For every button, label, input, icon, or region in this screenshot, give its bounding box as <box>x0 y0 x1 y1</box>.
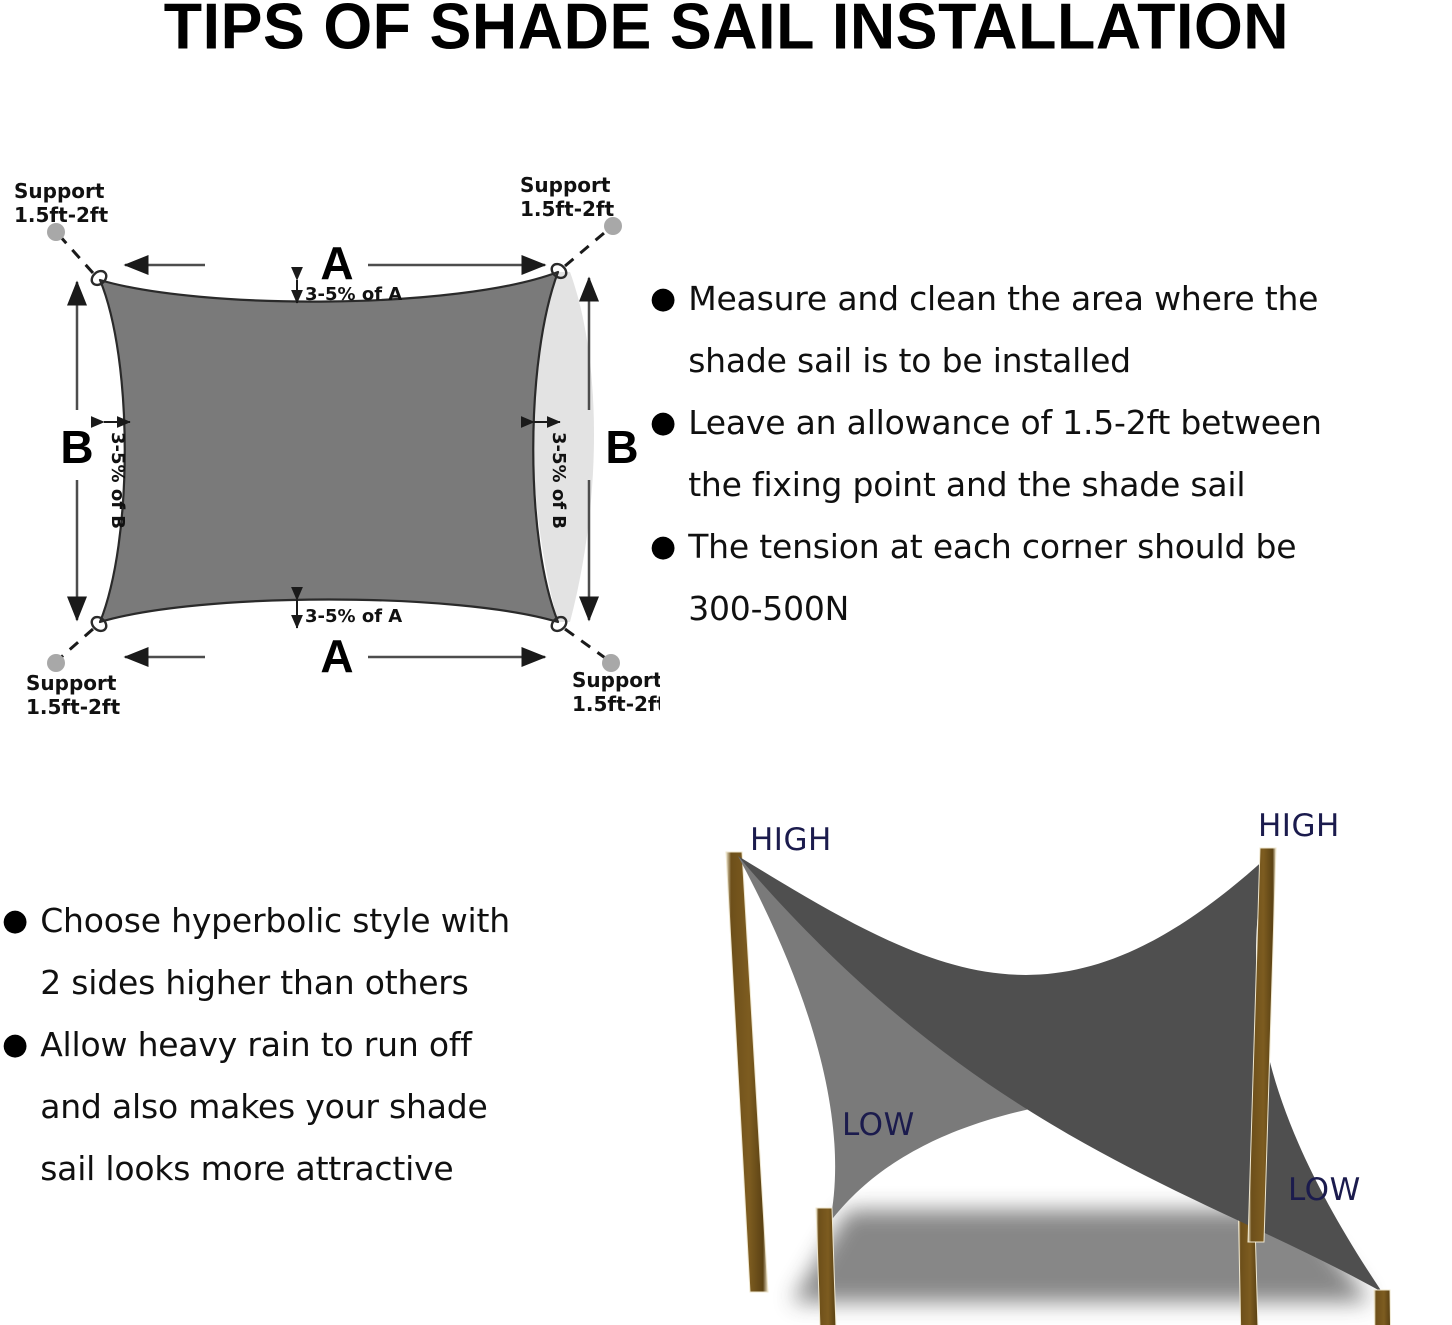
bullet-icon: ● <box>2 890 28 952</box>
dimension-b-right: B <box>589 278 639 620</box>
guy-line-bottom-left <box>58 629 93 660</box>
page-title-bar: TIPS OF SHADE SAIL INSTALLATION <box>0 0 1452 50</box>
curvature-b-left-label: 3-5% of B <box>107 432 128 529</box>
bullet-icon: ● <box>650 268 676 330</box>
bullet-icon: ● <box>650 392 676 454</box>
support-label-top-left-line2: 1.5ft-2ft <box>14 203 109 227</box>
bullet-icon: ● <box>650 516 676 578</box>
hyperbolic-style-tips-list: ● Choose hyperbolic style with 2 sides h… <box>2 890 622 1200</box>
curvature-b-right-label: 3-5% of B <box>548 432 569 529</box>
support-label-top-right-line2: 1.5ft-2ft <box>520 197 615 221</box>
installation-tips-list: ● Measure and clean the area where the s… <box>650 268 1450 640</box>
list-item: ● Measure and clean the area where the s… <box>650 268 1450 392</box>
tip-text: The tension at each corner should be 300… <box>688 516 1296 640</box>
tip-text: Choose hyperbolic style with 2 sides hig… <box>40 890 510 1014</box>
hyperbolic-sail-illustration: HIGH HIGH LOW LOW <box>680 790 1452 1325</box>
support-label-bottom-left-line1: Support <box>26 671 117 695</box>
tip-text: Allow heavy rain to run off and also mak… <box>40 1014 487 1200</box>
support-label-bottom-right-line1: Support <box>572 668 660 692</box>
support-label-bottom-right-line2: 1.5ft-2ft <box>572 692 660 716</box>
curvature-a-top-label: 3-5% of A <box>305 284 402 305</box>
guy-line-top-left <box>58 234 93 273</box>
dimension-b-left: B <box>60 282 93 620</box>
list-item: ● The tension at each corner should be 3… <box>650 516 1450 640</box>
label-low-left: LOW <box>842 1107 915 1143</box>
support-label-top-left-line1: Support <box>14 179 105 203</box>
support-dot-bottom-left <box>47 654 65 672</box>
tip-text: Leave an allowance of 1.5-2ft between th… <box>688 392 1322 516</box>
page-title: TIPS OF SHADE SAIL INSTALLATION <box>163 0 1288 59</box>
label-low-right: LOW <box>1288 1172 1361 1208</box>
curvature-b-left: 3-5% of B <box>104 422 130 529</box>
list-item: ● Allow heavy rain to run off and also m… <box>2 1014 622 1200</box>
curvature-a-bottom: 3-5% of A <box>297 600 402 628</box>
dim-a-top-letter: A <box>320 237 353 289</box>
rectangular-sail-diagram: Support 1.5ft-2ft Support 1.5ft-2ft Supp… <box>0 160 660 740</box>
dim-b-right-letter: B <box>605 421 638 473</box>
shade-sail-body <box>100 272 558 622</box>
post-right-low <box>1374 1290 1392 1325</box>
bullet-icon: ● <box>2 1014 28 1076</box>
label-high-right: HIGH <box>1258 808 1340 844</box>
guy-line-bottom-right <box>565 629 608 660</box>
tip-text: Measure and clean the area where the sha… <box>688 268 1318 392</box>
curvature-a-bottom-label: 3-5% of A <box>305 606 402 627</box>
dim-b-left-letter: B <box>60 421 93 473</box>
post-left-high <box>726 852 768 1292</box>
dimension-a-bottom: A <box>125 630 545 682</box>
support-label-top-right-line1: Support <box>520 173 611 197</box>
curvature-a-top: 3-5% of A <box>297 280 402 305</box>
list-item: ● Choose hyperbolic style with 2 sides h… <box>2 890 622 1014</box>
dim-a-bottom-letter: A <box>320 630 353 682</box>
guy-line-top-right <box>565 228 610 266</box>
list-item: ● Leave an allowance of 1.5-2ft between … <box>650 392 1450 516</box>
dimension-a-top: A <box>125 237 545 289</box>
label-high-left: HIGH <box>750 822 832 858</box>
support-label-bottom-left-line2: 1.5ft-2ft <box>26 695 121 719</box>
